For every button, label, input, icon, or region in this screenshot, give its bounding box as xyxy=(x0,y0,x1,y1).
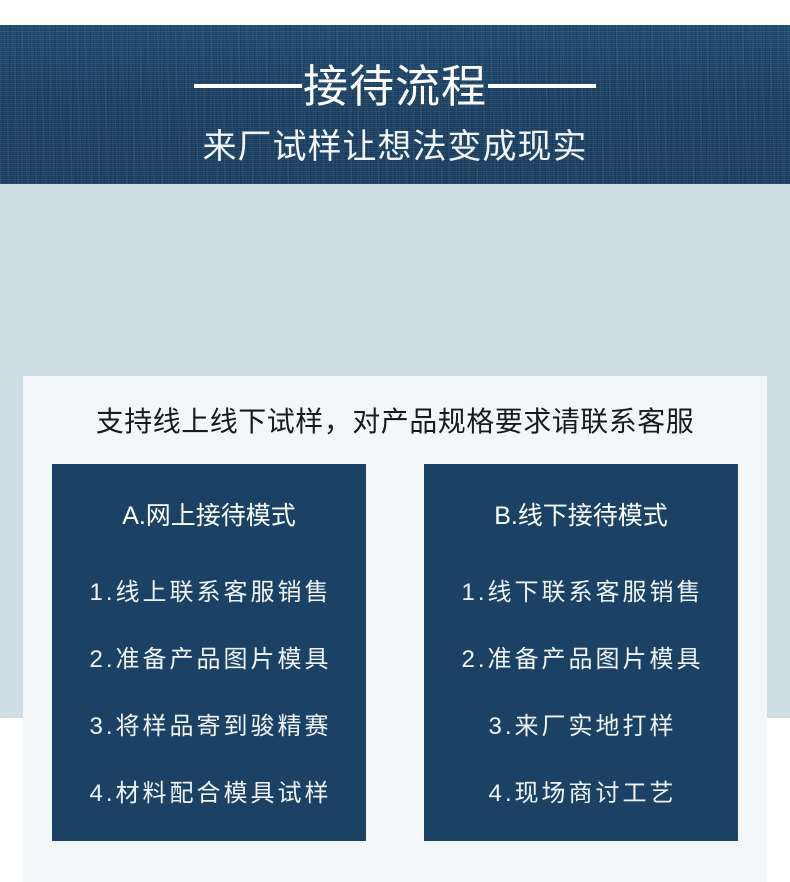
title-rule-right xyxy=(488,84,596,88)
card-title-offline: B.线下接待模式 xyxy=(424,504,738,529)
content-outer-band: 支持线上线下试样，对产品规格要求请联系客服 A.网上接待模式 1.线上联系客服销… xyxy=(0,184,790,718)
list-item: 1.线下联系客服销售 xyxy=(424,559,738,626)
title-rule-left xyxy=(194,84,302,88)
card-title-online: A.网上接待模式 xyxy=(52,504,366,529)
page-subtitle: 来厂试样让想法变成现实 xyxy=(0,126,790,169)
content-panel: 支持线上线下试样，对产品规格要求请联系客服 A.网上接待模式 1.线上联系客服销… xyxy=(23,376,767,882)
list-item: 4.材料配合模具试样 xyxy=(52,760,366,827)
card-steps-offline: 1.线下联系客服销售 2.准备产品图片模具 3.来厂实地打样 4.现场商讨工艺 xyxy=(424,559,738,827)
list-item: 4.现场商讨工艺 xyxy=(424,760,738,827)
panel-heading: 支持线上线下试样，对产品规格要求请联系客服 xyxy=(23,404,767,440)
list-item: 2.准备产品图片模具 xyxy=(52,626,366,693)
list-item: 1.线上联系客服销售 xyxy=(52,559,366,626)
process-cards: A.网上接待模式 1.线上联系客服销售 2.准备产品图片模具 3.将样品寄到骏精… xyxy=(52,464,738,841)
list-item: 3.将样品寄到骏精赛 xyxy=(52,693,366,760)
card-online-mode: A.网上接待模式 1.线上联系客服销售 2.准备产品图片模具 3.将样品寄到骏精… xyxy=(52,464,366,841)
page-root: 接待流程 来厂试样让想法变成现实 支持线上线下试样，对产品规格要求请联系客服 A… xyxy=(0,0,790,718)
page-title: 接待流程 xyxy=(302,64,488,109)
list-item: 2.准备产品图片模具 xyxy=(424,626,738,693)
list-item: 3.来厂实地打样 xyxy=(424,693,738,760)
card-steps-online: 1.线上联系客服销售 2.准备产品图片模具 3.将样品寄到骏精赛 4.材料配合模… xyxy=(52,559,366,827)
header-banner: 接待流程 来厂试样让想法变成现实 xyxy=(0,25,790,184)
card-offline-mode: B.线下接待模式 1.线下联系客服销售 2.准备产品图片模具 3.来厂实地打样 … xyxy=(424,464,738,841)
header-title-row: 接待流程 xyxy=(0,55,790,117)
top-white-gap xyxy=(0,0,790,25)
